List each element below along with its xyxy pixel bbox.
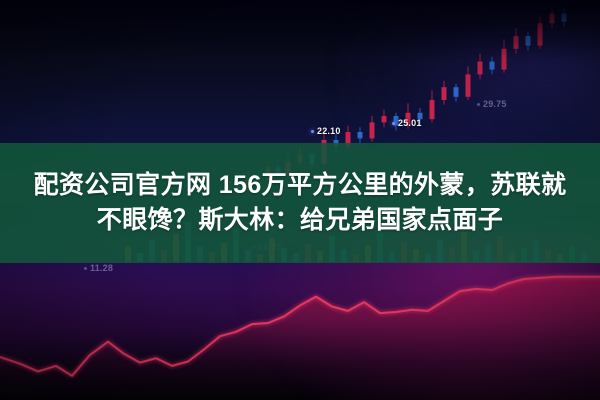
price-label-text: 29.75 — [483, 99, 507, 109]
headline-line-2: 不眼馋？斯大林：给兄弟国家点面子 — [97, 203, 503, 239]
headline-band: 配资公司官方网 156万平方公里的外蒙，苏联就 不眼馋？斯大林：给兄弟国家点面子 — [0, 143, 600, 263]
area-line-series — [0, 277, 600, 400]
candle-body — [490, 62, 495, 70]
candle-body — [442, 87, 447, 100]
price-marker-dot — [311, 130, 314, 133]
candle-body — [466, 74, 471, 96]
price-label: 25.01 — [392, 118, 422, 128]
price-label-text: 25.01 — [398, 118, 422, 128]
price-label: 29.75 — [477, 99, 507, 109]
candle-body — [382, 116, 387, 122]
screenshot-stage: 22.1025.0129.7519.0718.7511.28 配资公司官方网 1… — [0, 0, 600, 400]
candle-body — [454, 87, 459, 97]
headline-line-1: 配资公司官方网 156万平方公里的外蒙，苏联就 — [34, 168, 567, 204]
candle-body — [430, 100, 435, 119]
candle-body — [370, 122, 375, 138]
price-marker-dot — [84, 267, 87, 270]
price-label-text: 22.10 — [317, 126, 341, 136]
price-label: 11.28 — [84, 263, 113, 273]
candle-body — [358, 132, 363, 138]
price-label-text: 11.28 — [90, 263, 113, 273]
price-marker-dot — [477, 103, 480, 106]
candle-body — [478, 62, 483, 75]
price-label: 22.10 — [311, 126, 341, 136]
price-marker-dot — [392, 122, 395, 125]
